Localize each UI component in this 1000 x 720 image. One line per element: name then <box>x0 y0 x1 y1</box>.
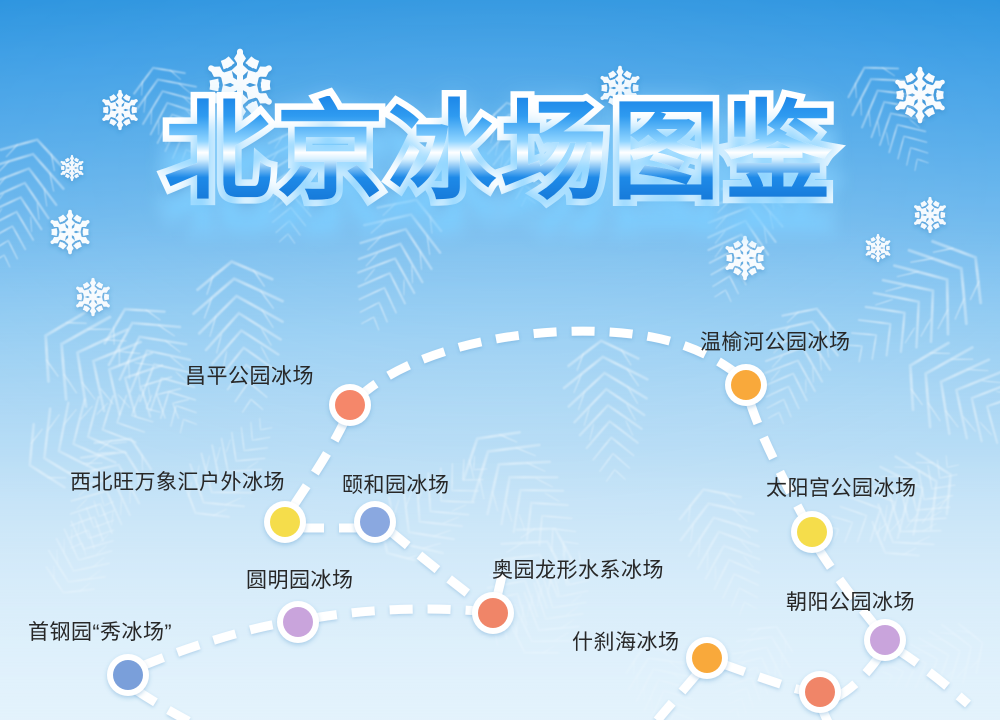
route-line <box>723 664 805 691</box>
station-dot-core <box>478 598 508 628</box>
route-line <box>836 655 880 697</box>
station-dot-wenyuhe[interactable] <box>725 364 767 406</box>
rink-label-shougang: 首钢园“秀冰场” <box>28 622 172 643</box>
station-dot-core <box>805 677 835 707</box>
station-dot-shichahai[interactable] <box>686 637 728 679</box>
station-dot-aoyuan[interactable] <box>472 592 514 634</box>
station-dot-taiyanggong[interactable] <box>791 511 833 553</box>
rink-label-taiyanggong: 太阳宫公园冰场 <box>766 478 917 499</box>
rink-label-yuanmingyuan: 圆明园冰场 <box>246 570 354 591</box>
rink-label-yiheyuan: 颐和园冰场 <box>342 475 450 496</box>
rink-label-aoyuan: 奥园龙形水系冰场 <box>492 560 664 581</box>
poster-canvas: 北京冰场图鉴 北京冰场图鉴 北京冰场图鉴 昌平公园冰场温榆河公园冰场西北旺万象汇… <box>0 0 1000 720</box>
station-dot-yuanmingyuan[interactable] <box>277 601 319 643</box>
station-dot-xibeiwang[interactable] <box>264 501 306 543</box>
station-dot-core <box>335 390 365 420</box>
station-dot-core <box>692 643 722 673</box>
route-line <box>390 531 482 604</box>
route-line <box>898 650 968 704</box>
station-dot-shougang[interactable] <box>107 654 149 696</box>
rink-label-chaoyang: 朝阳公园冰场 <box>786 592 915 613</box>
route-lines <box>136 331 968 720</box>
route-line <box>818 548 877 628</box>
station-dot-core <box>731 370 761 400</box>
station-dot-chaoyang[interactable] <box>864 619 906 661</box>
route-line <box>656 674 697 720</box>
station-dot-core <box>797 517 827 547</box>
station-dot-core <box>270 507 300 537</box>
route-line <box>136 690 205 720</box>
station-dot-unnamed-coral-south[interactable] <box>799 671 841 713</box>
station-dot-core <box>870 625 900 655</box>
station-dot-yiheyuan[interactable] <box>354 501 396 543</box>
route-line <box>292 420 345 508</box>
station-dot-core <box>283 607 313 637</box>
station-dot-core <box>360 507 390 537</box>
station-dot-changping[interactable] <box>329 384 371 426</box>
route-line <box>750 402 804 518</box>
station-dot-core <box>113 660 143 690</box>
rink-label-wenyuhe: 温榆河公园冰场 <box>700 332 851 353</box>
rink-label-changping: 昌平公园冰场 <box>185 366 314 387</box>
route-line <box>314 609 478 618</box>
rink-label-xibeiwang: 西北旺万象汇户外冰场 <box>70 472 285 493</box>
station-dots <box>107 364 906 713</box>
route-line <box>358 331 740 398</box>
rink-label-shichahai: 什刹海冰场 <box>572 632 680 653</box>
